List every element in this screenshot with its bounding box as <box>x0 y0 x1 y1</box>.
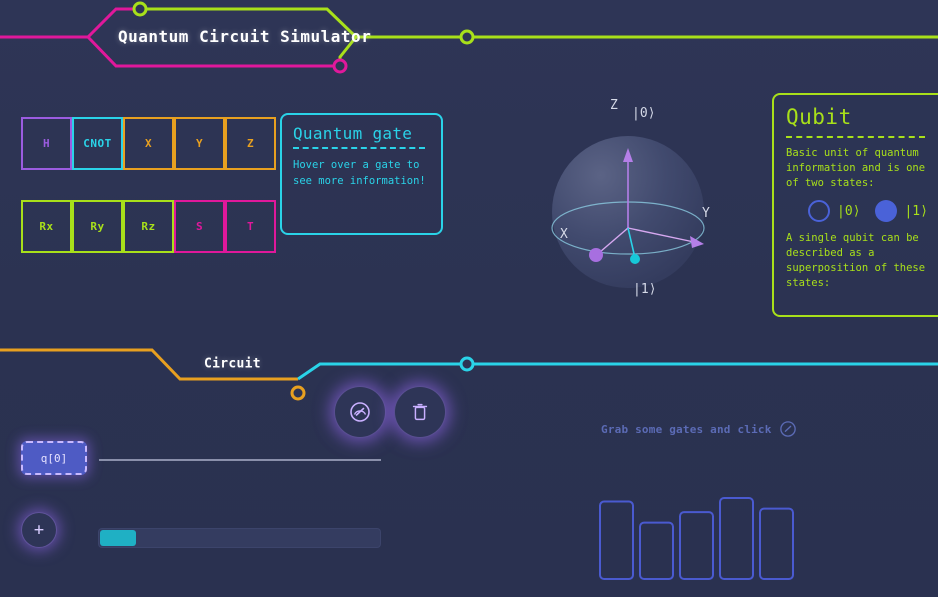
gate-z[interactable]: Z <box>225 117 276 170</box>
gate-info-body: Hover over a gate to see more informatio… <box>293 157 430 189</box>
histogram-bar <box>680 512 713 579</box>
results-histogram <box>598 487 798 587</box>
gate-row-2: Rx Ry Rz S T <box>21 200 276 253</box>
trash-icon <box>409 401 431 423</box>
qubit-row-label[interactable]: q[0] <box>21 441 87 475</box>
app-root: Quantum Circuit Simulator H CNOT X Y Z R… <box>0 0 938 597</box>
qubit-info-paragraph-1: Basic unit of quantum information and is… <box>786 146 938 191</box>
gate-z-label: Z <box>247 137 254 150</box>
state-one-label: |1⟩ <box>904 204 927 219</box>
results-hint: Grab some gates and click <box>601 420 797 438</box>
state-zero-label: |0⟩ <box>837 204 860 219</box>
bloch-label-x: X <box>560 227 568 242</box>
gate-t[interactable]: T <box>225 200 276 253</box>
run-button[interactable] <box>334 386 386 438</box>
gate-h-label: H <box>43 137 50 150</box>
bloch-sphere[interactable] <box>546 130 711 295</box>
gate-info-card: Quantum gate Hover over a gate to see mo… <box>280 113 443 235</box>
add-qubit-button[interactable]: + <box>21 512 57 548</box>
circuit-scrollbar[interactable] <box>98 528 381 548</box>
qubit-info-paragraph-2: A single qubit can be described as a sup… <box>786 231 938 291</box>
histogram-bar <box>760 509 793 579</box>
histogram-bar <box>600 502 633 579</box>
qubit-info-card: Qubit Basic unit of quantum information … <box>772 93 938 317</box>
gate-y-label: Y <box>196 137 203 150</box>
circuit-scrollbar-thumb[interactable] <box>100 530 136 546</box>
bloch-label-ket0: |0⟩ <box>632 106 655 121</box>
gate-info-divider <box>293 147 425 149</box>
gauge-icon <box>348 400 372 424</box>
gate-rz[interactable]: Rz <box>123 200 174 253</box>
qubit-info-divider <box>786 136 925 138</box>
results-hint-text: Grab some gates and click <box>601 423 772 436</box>
bloch-axis-x-arrow <box>589 248 603 262</box>
gate-ry[interactable]: Ry <box>72 200 123 253</box>
bloch-state-point <box>630 254 640 264</box>
gate-s-label: S <box>196 220 203 233</box>
state-one-circle-icon <box>875 200 897 222</box>
bloch-label-z: Z <box>610 98 618 113</box>
gate-h[interactable]: H <box>21 117 72 170</box>
add-qubit-label: + <box>34 520 44 540</box>
gate-rz-label: Rz <box>141 220 155 233</box>
gate-cnot-label: CNOT <box>83 137 112 150</box>
gate-y[interactable]: Y <box>174 117 225 170</box>
gate-row-1: H CNOT X Y Z <box>21 117 276 170</box>
bloch-label-ket1: |1⟩ <box>633 282 656 297</box>
gate-palette: H CNOT X Y Z Rx Ry Rz <box>21 117 276 283</box>
qubit-wire <box>99 459 381 461</box>
histogram-bar <box>720 498 753 579</box>
gate-s[interactable]: S <box>174 200 225 253</box>
histogram-bar <box>640 523 673 579</box>
gate-cnot[interactable]: CNOT <box>72 117 123 170</box>
gate-rx-label: Rx <box>39 220 53 233</box>
gate-info-title: Quantum gate <box>293 124 430 143</box>
gate-x-label: X <box>145 137 152 150</box>
bloch-label-y: Y <box>702 206 710 221</box>
state-zero-circle-icon <box>808 200 830 222</box>
gate-rx[interactable]: Rx <box>21 200 72 253</box>
gate-x[interactable]: X <box>123 117 174 170</box>
qubit-info-title: Qubit <box>786 105 938 129</box>
qubit-state-row: |0⟩ |1⟩ <box>808 200 938 222</box>
circuit-section-title: Circuit <box>204 357 261 372</box>
page-title: Quantum Circuit Simulator <box>118 27 371 46</box>
gauge-icon <box>779 420 797 438</box>
gate-t-label: T <box>247 220 254 233</box>
clear-button[interactable] <box>394 386 446 438</box>
gate-ry-label: Ry <box>90 220 104 233</box>
